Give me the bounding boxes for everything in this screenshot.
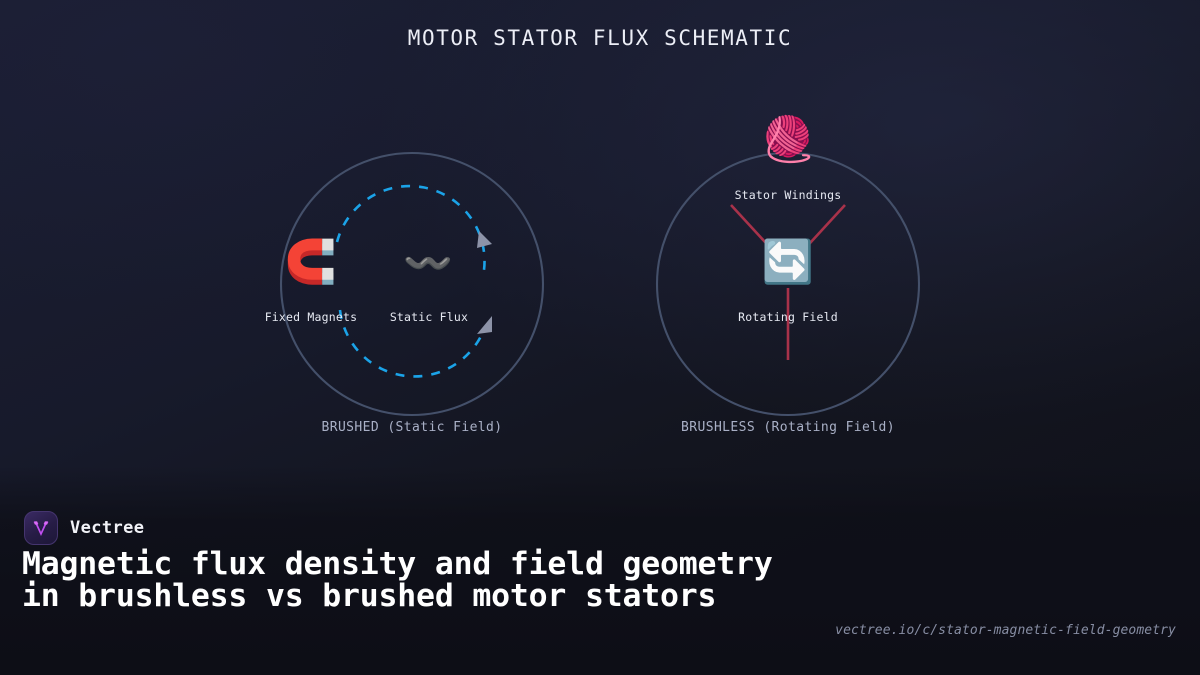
logo-node-left (34, 521, 37, 524)
label-rotating-field: Rotating Field (678, 310, 898, 324)
vectree-logo-icon (24, 511, 58, 545)
slide-canvas: MOTOR STATOR FLUX SCHEMATIC 🧲 Fixed Magn… (0, 0, 1200, 675)
caption-brushed: BRUSHED (Static Field) (247, 420, 577, 435)
magnet-icon: 🧲 (283, 241, 339, 283)
label-stator-windings: Stator Windings (678, 188, 898, 202)
yarn-icon: 🧶 (760, 118, 816, 162)
page-title: MOTOR STATOR FLUX SCHEMATIC (0, 26, 1200, 50)
flux-arrow-upper-icon (477, 231, 492, 248)
label-static-flux: Static Flux (319, 310, 539, 324)
headline: Magnetic flux density and field geometry… (22, 548, 782, 613)
caption-brushless: BRUSHLESS (Rotating Field) (623, 420, 953, 435)
diagram-brushless: 🧶 Stator Windings 🔄 Rotating Field (623, 120, 953, 450)
vectree-v-glyph (31, 518, 51, 538)
wave-dash-icon: 〰️ (400, 244, 456, 284)
brand-row[interactable]: Vectree (24, 511, 144, 545)
source-url[interactable]: vectree.io/c/stator-magnetic-field-geome… (835, 623, 1176, 638)
brand-name: Vectree (70, 518, 144, 538)
arrows-counterclockwise-icon: 🔄 (760, 241, 816, 283)
logo-node-right (44, 521, 47, 524)
diagram-brushed: 🧲 Fixed Magnets 〰️ Static Flux (247, 120, 577, 450)
